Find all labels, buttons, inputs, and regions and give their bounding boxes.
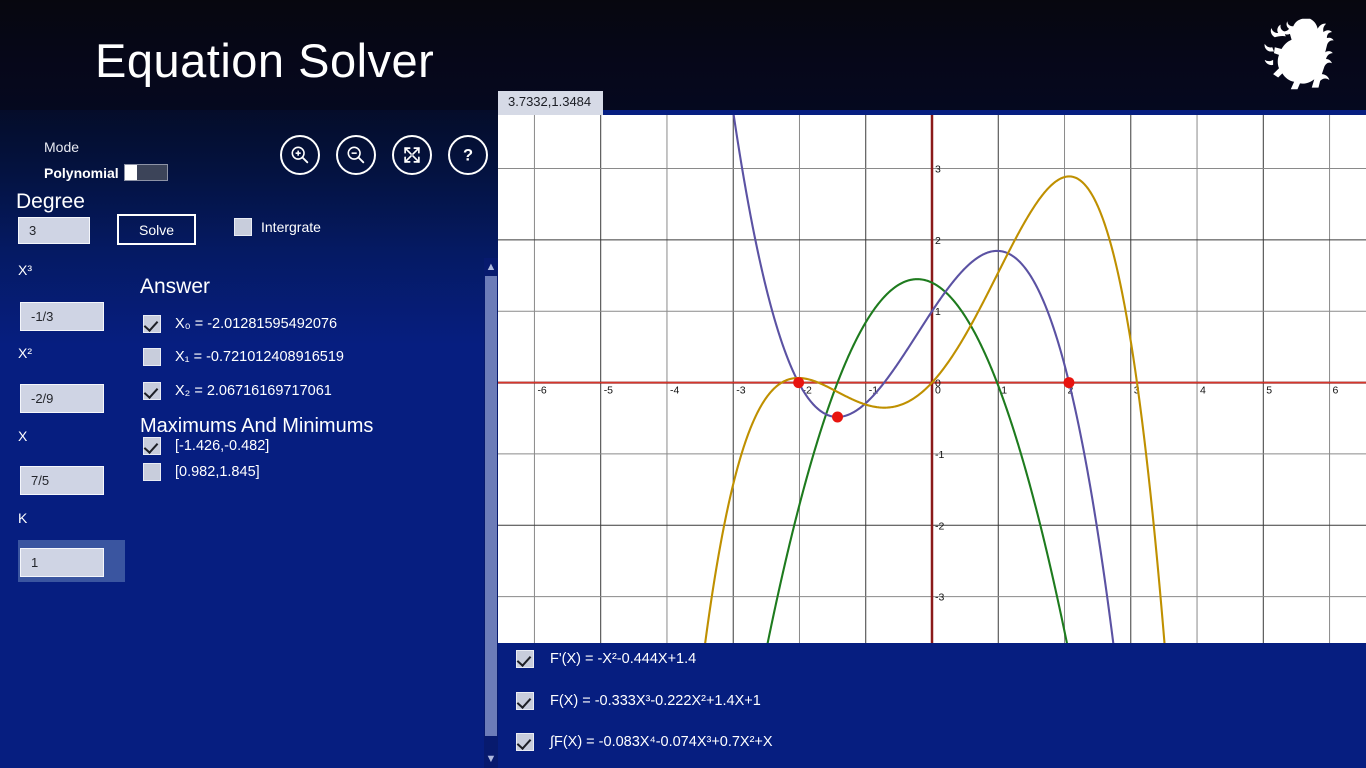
application-root: Equation Solver Mode Polynomial: [0, 0, 1366, 768]
root-row-1[interactable]: X₁ = -0.721012408916519: [143, 348, 344, 366]
mode-toggle-switch[interactable]: [124, 164, 168, 181]
svg-text:-3: -3: [935, 592, 944, 604]
minmax-checkbox-1[interactable]: [143, 463, 161, 481]
minmax-label-0: [-1.426,-0.482]: [175, 438, 269, 454]
zoom-out-button[interactable]: [336, 135, 376, 175]
equation-label-2: ∫F(X) = -0.083X⁴-0.074X³+0.7X²+X: [550, 734, 773, 750]
minmax-row-1[interactable]: [0.982,1.845]: [143, 463, 260, 481]
coef-label-x2: X²: [18, 345, 32, 361]
minmax-label-1: [0.982,1.845]: [175, 464, 260, 480]
page-title: Equation Solver: [95, 37, 434, 84]
coef-label-x1: X: [18, 428, 27, 444]
coef-label-x3: X³: [18, 262, 32, 278]
coef-input-x2[interactable]: [20, 384, 104, 413]
root-label-0: X₀ = -2.01281595492076: [175, 316, 337, 332]
root-label-1: X₁ = -0.721012408916519: [175, 349, 344, 365]
root-row-2[interactable]: X₂ = 2.06716169717061: [143, 382, 332, 400]
heraldic-lion-icon: [1252, 12, 1348, 96]
equation-checkbox-1[interactable]: [516, 692, 534, 710]
solve-button[interactable]: Solve: [117, 214, 196, 245]
minmax-checkbox-0[interactable]: [143, 437, 161, 455]
integrate-option[interactable]: Intergrate: [234, 218, 321, 236]
degree-input[interactable]: [18, 217, 90, 244]
svg-text:2: 2: [935, 235, 941, 247]
equation-label-0: F'(X) = -X²-0.444X+1.4: [550, 651, 696, 667]
equation-row-1[interactable]: F(X) = -0.333X³-0.222X²+1.4X+1: [516, 692, 761, 710]
graph-canvas[interactable]: -6-5-4-3-2-101234563210-1-2-3: [498, 115, 1366, 643]
svg-text:3: 3: [935, 164, 941, 176]
help-button[interactable]: ?: [448, 135, 488, 175]
plot-svg: -6-5-4-3-2-101234563210-1-2-3: [498, 115, 1366, 643]
svg-text:-4: -4: [670, 385, 679, 397]
svg-text:-1: -1: [935, 449, 944, 461]
help-icon: ?: [457, 144, 479, 166]
mode-label: Mode: [44, 139, 79, 155]
equation-checkbox-0[interactable]: [516, 650, 534, 668]
svg-text:5: 5: [1266, 385, 1272, 397]
equation-checkbox-2[interactable]: [516, 733, 534, 751]
answer-heading: Answer: [140, 275, 210, 299]
root-checkbox-2[interactable]: [143, 382, 161, 400]
integrate-label: Intergrate: [261, 219, 321, 235]
zoom-in-button[interactable]: [280, 135, 320, 175]
scrollbar-thumb[interactable]: [485, 276, 497, 736]
coef-input-x3[interactable]: [20, 302, 104, 331]
equation-label-1: F(X) = -0.333X³-0.222X²+1.4X+1: [550, 693, 761, 709]
svg-text:6: 6: [1333, 385, 1339, 397]
svg-text:-2: -2: [935, 520, 944, 532]
svg-text:4: 4: [1200, 385, 1206, 397]
panel-scrollbar[interactable]: ▲ ▼: [484, 258, 498, 768]
coordinate-readout: 3.7332,1.3484: [498, 91, 603, 115]
coef-label-k: K: [18, 510, 27, 526]
minmax-row-0[interactable]: [-1.426,-0.482]: [143, 437, 269, 455]
minmax-heading: Maximums And Minimums: [140, 415, 373, 438]
equation-row-2[interactable]: ∫F(X) = -0.083X⁴-0.074X³+0.7X²+X: [516, 733, 773, 751]
fullscreen-button[interactable]: [392, 135, 432, 175]
root-checkbox-1[interactable]: [143, 348, 161, 366]
zoom-in-icon: [289, 144, 311, 166]
graph-toolbar: ?: [280, 135, 488, 175]
integrate-checkbox[interactable]: [234, 218, 252, 236]
svg-text:-3: -3: [736, 385, 745, 397]
fullscreen-icon: [401, 144, 423, 166]
coef-input-x1[interactable]: [20, 466, 104, 495]
scroll-down-icon[interactable]: ▼: [484, 750, 498, 768]
root-row-0[interactable]: X₀ = -2.01281595492076: [143, 315, 337, 333]
degree-heading: Degree: [16, 190, 85, 214]
toggle-thumb: [125, 165, 137, 180]
svg-text:-5: -5: [604, 385, 613, 397]
zoom-out-icon: [345, 144, 367, 166]
svg-text:1: 1: [935, 306, 941, 318]
root-label-2: X₂ = 2.06716169717061: [175, 383, 332, 399]
scroll-up-icon[interactable]: ▲: [484, 258, 498, 276]
equation-row-0[interactable]: F'(X) = -X²-0.444X+1.4: [516, 650, 696, 668]
root-checkbox-0[interactable]: [143, 315, 161, 333]
coef-input-k[interactable]: [20, 548, 104, 577]
svg-text:-6: -6: [537, 385, 546, 397]
mode-value-label: Polynomial: [44, 165, 119, 181]
svg-text:?: ?: [463, 147, 473, 165]
